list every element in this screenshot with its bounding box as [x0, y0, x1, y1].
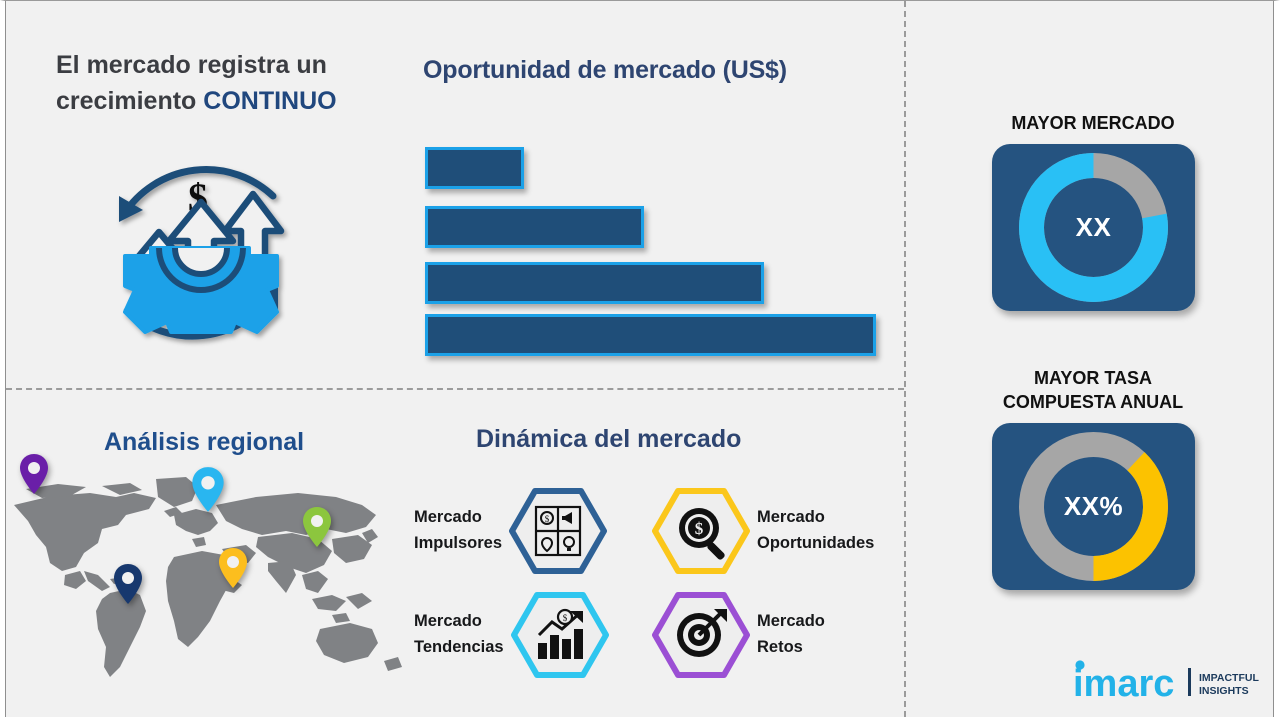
pin-europe: [191, 466, 225, 513]
hexagon-trends: $: [510, 591, 610, 679]
bar-3: [425, 262, 764, 304]
svg-text:$: $: [562, 613, 567, 623]
growth-headline-accent: CONTINUO: [203, 87, 336, 115]
logo-tagline-line1: IMPACTFUL: [1199, 672, 1259, 684]
vertical-divider: [904, 1, 906, 717]
horizontal-divider: [6, 388, 904, 390]
dynamic-item-drivers[interactable]: Mercado Impulsores $: [414, 487, 608, 575]
donut-title-highest-cagr: MAYOR TASA COMPUESTA ANUAL: [953, 366, 1233, 414]
pin-south-america: [113, 563, 143, 605]
dynamic-item-opportunities[interactable]: $ Mercado Oportunidades: [651, 487, 874, 575]
growth-gear-icon: $: [81, 136, 316, 371]
logo-divider: [1188, 668, 1191, 696]
bars-chart-title: Oportunidad de mercado (US$): [423, 56, 787, 85]
bar-2: [425, 206, 644, 248]
growth-headline-line1: El mercado registra un: [56, 51, 327, 79]
svg-text:$: $: [545, 514, 550, 524]
dynamic-item-trends[interactable]: Mercado Tendencias $: [414, 591, 610, 679]
logo-wordmark: imarc: [1073, 663, 1174, 704]
donut-center-largest-market: XX: [992, 144, 1195, 311]
dynamic-label-challenges: Mercado Retos: [757, 609, 825, 660]
regional-analysis-title: Análisis regional: [104, 428, 304, 457]
imarc-logo: imarc IMPACTFUL INSIGHTS: [1069, 656, 1259, 704]
dynamic-label-drivers: Mercado Impulsores: [414, 505, 502, 556]
pin-north-america: [19, 453, 49, 495]
svg-text:$: $: [695, 519, 704, 538]
dynamic-item-challenges[interactable]: Mercado Retos: [651, 591, 825, 679]
donut-card-largest-market: XX: [992, 144, 1195, 311]
slide-root: El mercado registra un crecimiento CONTI…: [0, 0, 1280, 720]
dynamic-label-opportunities: Mercado Oportunidades: [757, 505, 874, 556]
market-opportunity-bar-chart: [425, 147, 885, 357]
donut-card-highest-cagr: XX%: [992, 423, 1195, 590]
hexagon-opportunities: $: [651, 487, 751, 575]
growth-headline: El mercado registra un crecimiento CONTI…: [56, 48, 406, 119]
pin-africa: [218, 547, 248, 589]
hexagon-challenges: [651, 591, 751, 679]
world-map: [6, 471, 406, 686]
bar-1: [425, 147, 524, 189]
growth-headline-line2-plain: crecimiento: [56, 87, 203, 115]
pin-asia: [302, 506, 332, 548]
donut-title-largest-market: MAYOR MERCADO: [953, 111, 1233, 135]
market-dynamics-title: Dinámica del mercado: [476, 425, 741, 454]
logo-tagline-line2: INSIGHTS: [1199, 685, 1249, 697]
hexagon-drivers: $: [508, 487, 608, 575]
bar-4: [425, 314, 876, 356]
donut-center-highest-cagr: XX%: [992, 423, 1195, 590]
slide-canvas: El mercado registra un crecimiento CONTI…: [5, 1, 1274, 717]
dynamic-label-trends: Mercado Tendencias: [414, 609, 504, 660]
